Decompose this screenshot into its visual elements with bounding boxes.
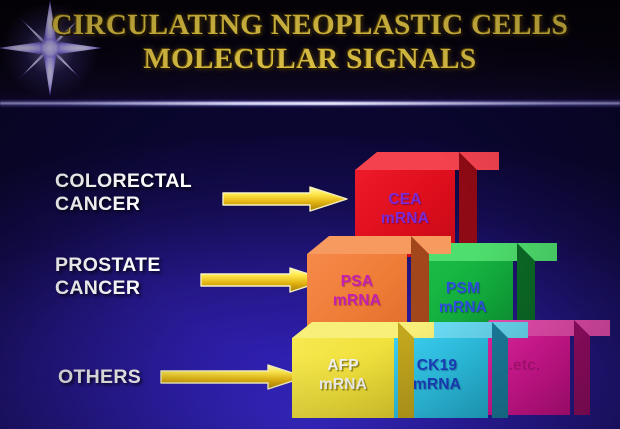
arrow-right-icon-others bbox=[160, 364, 306, 390]
cube-afp-side-face bbox=[398, 322, 414, 418]
title-line-1: CIRCULATING NEOPLASTIC CELLS bbox=[52, 9, 569, 41]
label-colorectal-cancer: COLORECTAL CANCER bbox=[55, 170, 192, 216]
label-others: OTHERS bbox=[58, 366, 141, 389]
cube-afp: AFP mRNA bbox=[292, 322, 414, 418]
cube-cea-top-face bbox=[355, 152, 499, 170]
title-divider-highlight bbox=[60, 102, 560, 105]
label-prostate-cancer: PROSTATE CANCER bbox=[55, 254, 161, 300]
arrow-right-icon-colorectal bbox=[222, 186, 348, 212]
cube-ck19-side-face bbox=[492, 322, 508, 418]
page-title: CIRCULATING NEOPLASTIC CELLS MOLECULAR S… bbox=[0, 8, 620, 76]
cube-afp-label: AFP mRNA bbox=[292, 356, 394, 394]
title-line-2: MOLECULAR SIGNALS bbox=[0, 42, 620, 76]
cube-cea-side-face bbox=[459, 152, 477, 257]
cube-etc-side-face bbox=[574, 320, 590, 415]
cube-cea-label: CEA mRNA bbox=[355, 190, 455, 228]
cube-psa-top-face bbox=[307, 236, 451, 254]
cube-psa-label: PSA mRNA bbox=[307, 272, 407, 310]
slide-canvas: CIRCULATING NEOPLASTIC CELLS MOLECULAR S… bbox=[0, 0, 620, 429]
